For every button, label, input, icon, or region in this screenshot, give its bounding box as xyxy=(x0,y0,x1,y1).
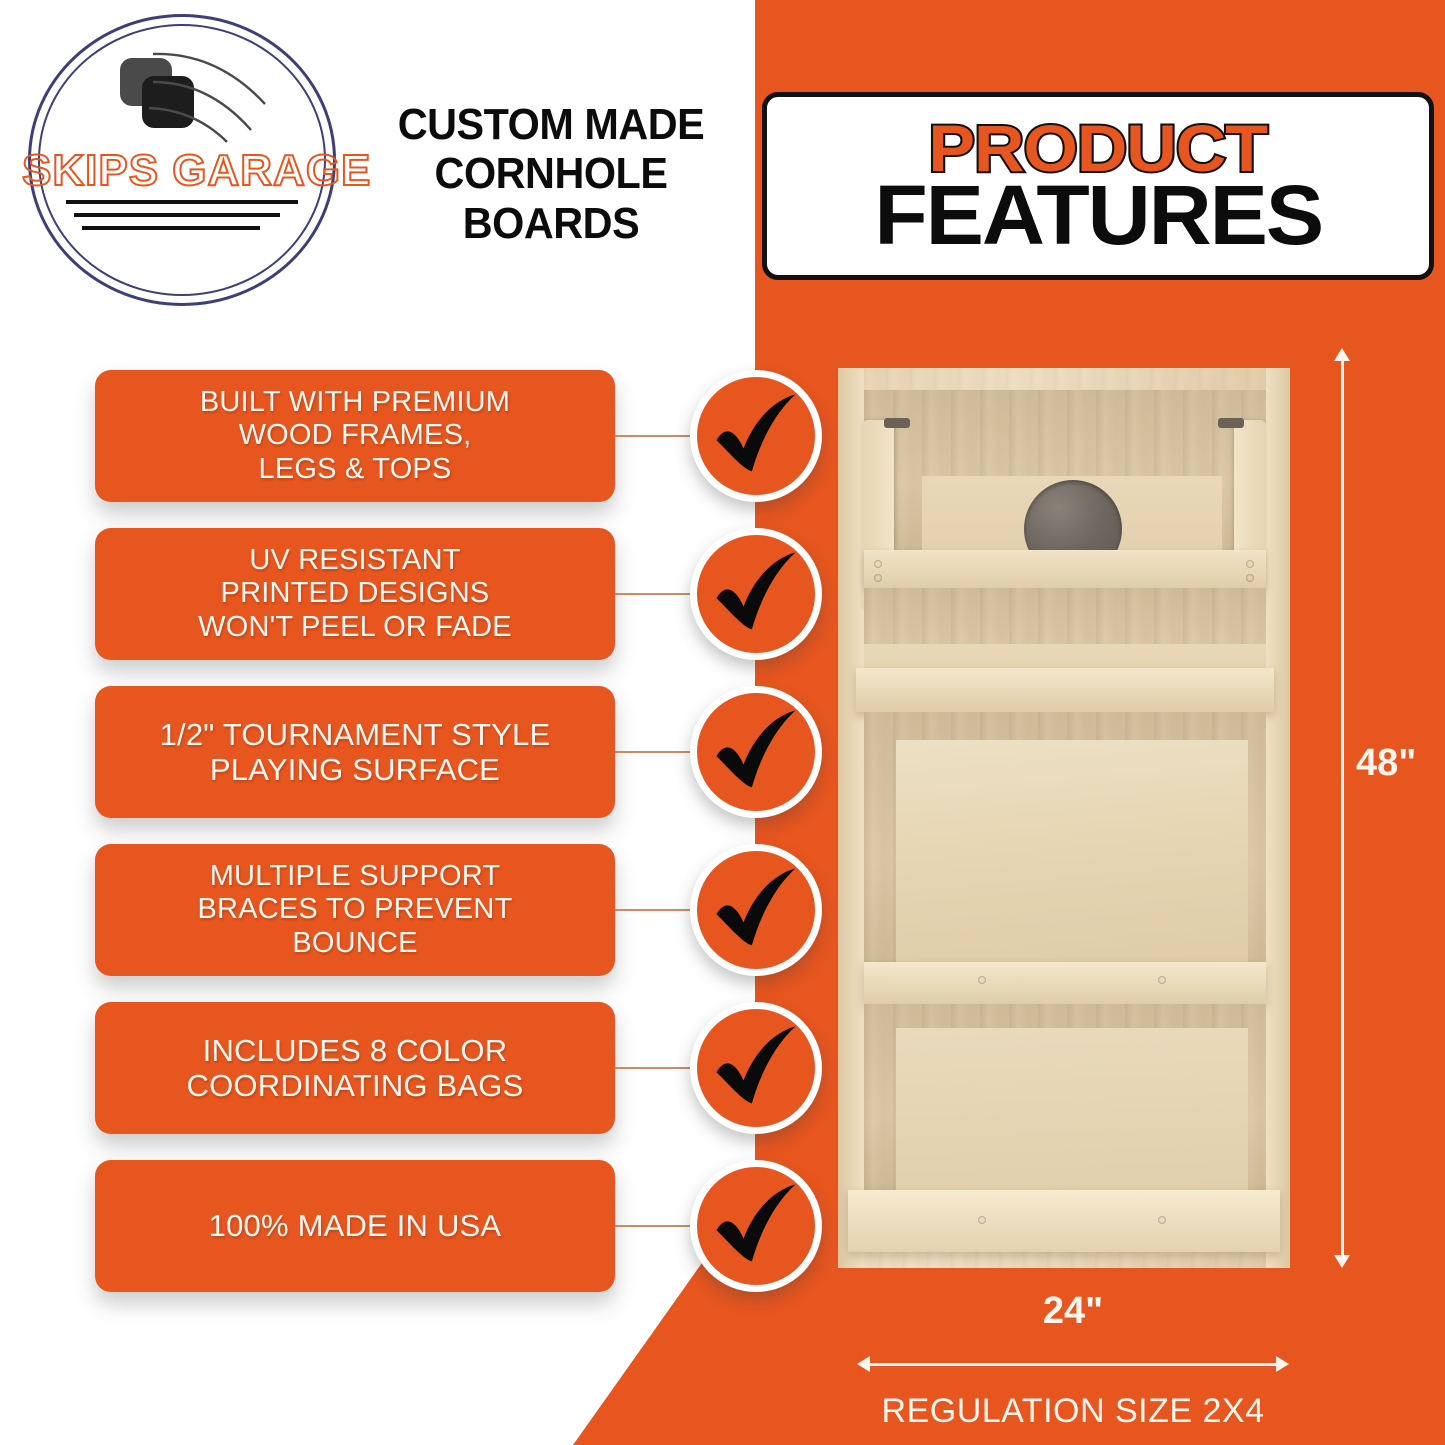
regulation-size-note: REGULATION SIZE 2X4 xyxy=(830,1392,1316,1431)
product-features-header: PRODUCT FEATURES xyxy=(762,92,1434,280)
feature-label-6: 100% MADE IN USA xyxy=(209,1208,502,1243)
feature-row-4: MULTIPLE SUPPORT BRACES TO PREVENT BOUNC… xyxy=(95,844,820,976)
check-icon-2 xyxy=(690,528,822,660)
page-title-line-1: CUSTOM MADE xyxy=(364,100,738,149)
feature-label-4: MULTIPLE SUPPORT BRACES TO PREVENT BOUNC… xyxy=(198,860,513,959)
check-icon-4 xyxy=(690,844,822,976)
height-dimension-label: 48" xyxy=(1356,742,1416,785)
feature-row-1: BUILT WITH PREMIUM WOOD FRAMES, LEGS & T… xyxy=(95,370,820,502)
product-features-word-features: FEATURES xyxy=(874,176,1322,256)
width-dimension-label: 24" xyxy=(857,1290,1289,1333)
motion-arcs-icon xyxy=(147,46,277,146)
feature-label-5: INCLUDES 8 COLOR COORDINATING BAGS xyxy=(187,1033,524,1104)
feature-pill-6[interactable]: 100% MADE IN USA xyxy=(95,1160,615,1292)
page-title-line-2: CORNHOLE xyxy=(364,149,738,198)
height-dimension-arrow xyxy=(1332,348,1352,1268)
feature-label-1: BUILT WITH PREMIUM WOOD FRAMES, LEGS & T… xyxy=(200,386,510,485)
width-dimension-arrow xyxy=(857,1354,1289,1374)
logo-underline-rules xyxy=(22,200,342,239)
check-icon-6 xyxy=(690,1160,822,1292)
check-icon-1 xyxy=(690,370,822,502)
feature-label-3: 1/2" TOURNAMENT STYLE PLAYING SURFACE xyxy=(160,717,551,788)
feature-row-6: 100% MADE IN USA xyxy=(95,1160,820,1292)
feature-pill-4[interactable]: MULTIPLE SUPPORT BRACES TO PREVENT BOUNC… xyxy=(95,844,615,976)
feature-row-2: UV RESISTANT PRINTED DESIGNS WON'T PEEL … xyxy=(95,528,820,660)
feature-label-2: UV RESISTANT PRINTED DESIGNS WON'T PEEL … xyxy=(198,544,512,643)
brand-logo: SKIPS GARAGE xyxy=(22,8,342,308)
infographic-canvas: SKIPS GARAGE CUSTOM MADE CORNHOLE BOARDS… xyxy=(0,0,1445,1445)
page-title-line-3: BOARDS xyxy=(364,199,738,248)
logo-wordmark: SKIPS GARAGE xyxy=(22,146,342,196)
feature-row-3: 1/2" TOURNAMENT STYLE PLAYING SURFACE xyxy=(95,686,820,818)
product-photo-cornhole-board xyxy=(838,368,1290,1268)
page-title: CUSTOM MADE CORNHOLE BOARDS xyxy=(364,100,738,248)
feature-pill-1[interactable]: BUILT WITH PREMIUM WOOD FRAMES, LEGS & T… xyxy=(95,370,615,502)
feature-row-5: INCLUDES 8 COLOR COORDINATING BAGS xyxy=(95,1002,820,1134)
feature-pill-2[interactable]: UV RESISTANT PRINTED DESIGNS WON'T PEEL … xyxy=(95,528,615,660)
check-icon-3 xyxy=(690,686,822,818)
feature-pill-5[interactable]: INCLUDES 8 COLOR COORDINATING BAGS xyxy=(95,1002,615,1134)
feature-pill-3[interactable]: 1/2" TOURNAMENT STYLE PLAYING SURFACE xyxy=(95,686,615,818)
check-icon-5 xyxy=(690,1002,822,1134)
